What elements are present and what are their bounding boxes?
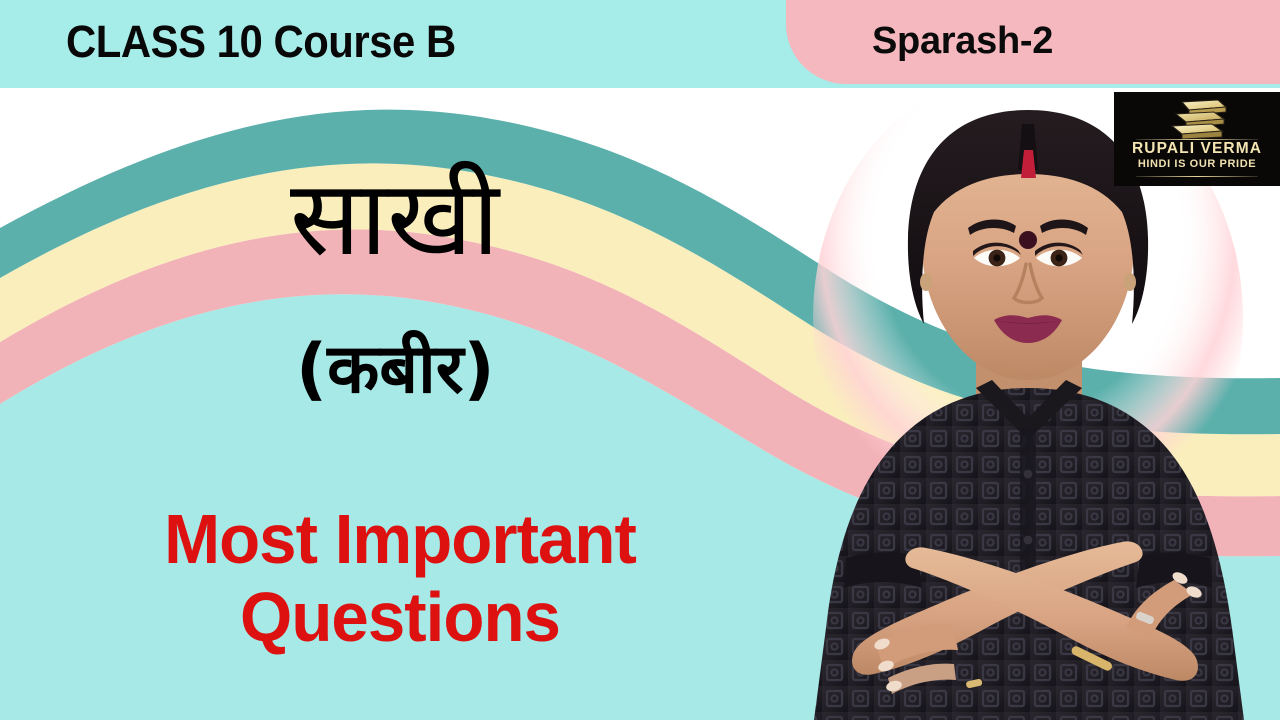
- headline-line-1: Most Important: [16, 500, 784, 578]
- headline-block: Most Important Questions: [0, 500, 800, 657]
- logo-tagline: HINDI IS OUR PRIDE: [1114, 158, 1280, 170]
- course-title: CLASS 10 Course B: [66, 16, 456, 68]
- earring-right: [1124, 273, 1136, 291]
- chapter-title-hindi: साखी: [290, 166, 499, 270]
- earring-left: [920, 273, 932, 291]
- thumbnail-canvas: CLASS 10 Course B Sparash-2 साखी (कबीर) …: [0, 0, 1280, 720]
- chapter-author-hindi: (कबीर): [296, 336, 495, 404]
- shirt-button-icon: [1024, 536, 1033, 545]
- headline-line-2: Questions: [16, 578, 784, 656]
- book-badge-label: Sparash-2: [872, 20, 1053, 63]
- bindi-icon: [1019, 231, 1037, 249]
- logo-divider-bottom: [1136, 176, 1258, 177]
- logo-brand-name: RUPALI VERMA: [1114, 140, 1280, 158]
- channel-logo: RUPALI VERMA HINDI IS OUR PRIDE: [1114, 92, 1280, 186]
- shirt-button-icon: [1024, 470, 1033, 479]
- stacked-books-icon: [1158, 98, 1236, 140]
